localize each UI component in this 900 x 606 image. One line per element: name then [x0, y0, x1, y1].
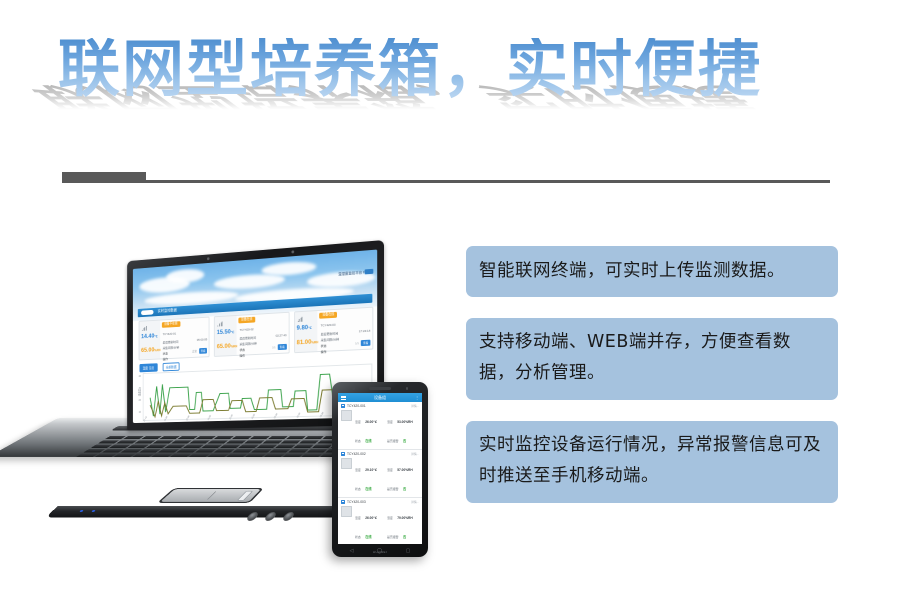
row-more-link[interactable]: 详情...	[411, 500, 419, 504]
chart-y-tick: 30	[139, 387, 141, 390]
list-item[interactable]: TCY420-001 详情... 温度 26.00℃ 湿度 53.00%RH 状…	[338, 402, 422, 450]
list-item[interactable]: TCY420-003 详情... 温度 26.00℃ 湿度 79.00%RH 状…	[338, 498, 422, 544]
device-flag-icon	[341, 452, 345, 456]
cloud-icon	[166, 268, 204, 284]
nav-menu-label[interactable]: 实时监控数据	[158, 308, 177, 314]
cloud-icon	[262, 260, 317, 277]
tab-all-data[interactable]: 全部数据	[162, 362, 179, 371]
dashboard-login-button[interactable]	[365, 269, 374, 275]
temp-label: 温度	[355, 468, 361, 472]
status-badge: 设备不在线	[162, 321, 180, 327]
state-label: 状态	[355, 535, 361, 539]
humidity-value: 81.00%RH	[297, 338, 319, 346]
humidity-value: 65.00%RH	[141, 346, 160, 353]
page-title: 联网型培养箱，实时便捷 联网型培养箱，实时便捷	[58, 38, 818, 158]
trackpad-divider	[207, 491, 216, 499]
list-item[interactable]: TCY420-002 详情... 温度 29.10℃ 湿度 57.00%RH 状…	[338, 450, 422, 498]
row-more-link[interactable]: 详情...	[411, 404, 419, 408]
feature-list: 智能联网终端，可实时上传监测数据。 支持移动端、WEB端并存，方便查看数据，分析…	[466, 246, 838, 524]
card-device-id: TCY420-01	[163, 332, 176, 336]
alarm-value: 否	[403, 487, 406, 491]
row-more-link[interactable]: 详情...	[411, 452, 419, 456]
humidity-value: 65.00%RH	[217, 343, 238, 351]
card-action-button[interactable]: 查看	[361, 340, 370, 346]
signal-icon	[298, 317, 304, 322]
divider	[62, 172, 830, 184]
hum-value: 57.00%RH	[397, 468, 412, 472]
temp-value: 29.10℃	[365, 468, 377, 472]
status-badge: 设备在线	[238, 317, 255, 323]
hum-value: 53.00%RH	[397, 420, 412, 424]
phone-app-title: 设备组	[338, 395, 422, 401]
device-id: TCY420-002	[347, 452, 366, 456]
alarm-label: 是否报警	[387, 535, 399, 539]
state-value: 在线	[365, 439, 371, 443]
card-row-label-2: 采集间隔/分钟	[321, 336, 339, 342]
temperature-value: 9.80℃	[297, 324, 312, 332]
device-thumbnail	[341, 410, 352, 421]
back-icon[interactable]: ◁	[350, 549, 354, 554]
hum-value: 79.00%RH	[397, 516, 412, 520]
hum-label: 湿度	[387, 468, 393, 472]
card-row-value-3: 正常	[192, 349, 197, 353]
phone-brand-label: HUAWEI	[373, 550, 387, 554]
page-title-text: 联网型培养箱，实时便捷	[58, 38, 818, 100]
nav-home-pill[interactable]	[141, 310, 153, 315]
feature-item-3: 实时监控设备运行情况，异常报警信息可及时推送至手机移动端。	[466, 421, 838, 503]
device-thumbnail	[341, 506, 352, 517]
temp-label: 温度	[355, 420, 361, 424]
card-row-label-3: 状态	[321, 343, 327, 348]
alarm-value: 否	[403, 535, 406, 539]
laptop-keyboard[interactable]	[76, 436, 360, 457]
alarm-value: 否	[403, 439, 406, 443]
device-id: TCY420-003	[347, 500, 366, 504]
phone-earpiece	[369, 387, 391, 390]
state-label: 状态	[355, 439, 361, 443]
card-row-label-4: 操作	[240, 353, 245, 358]
card-row-label-4: 操作	[163, 356, 168, 361]
state-value: 在线	[365, 487, 371, 491]
card-row-value-1: 02:27:43	[276, 333, 287, 337]
alarm-label: 是否报警	[387, 439, 399, 443]
card-row-label-1: 最后更新时间	[321, 330, 338, 336]
webcam-icon	[207, 257, 210, 260]
alarm-label: 是否报警	[387, 487, 399, 491]
card-row-label-1: 最后更新时间	[163, 339, 179, 344]
device-card[interactable]: 设备在线 15.50℃ 65.00%RH TCY420-02 最后更新时间 02…	[214, 312, 289, 357]
temperature-value: 15.50℃	[217, 328, 235, 336]
temperature-value: 14.40℃	[141, 333, 158, 340]
laptop-trackpad[interactable]	[157, 488, 264, 503]
card-row-label-4: 操作	[321, 349, 327, 354]
promo-page: 联网型培养箱，实时便捷 联网型培养箱，实时便捷 智能联网终端，可实时上传监测数据…	[0, 0, 900, 606]
card-row-label-3: 状态	[240, 347, 245, 352]
chart-y-tick: 10	[139, 411, 141, 414]
phone-app-header: 设备组 ⋮	[338, 393, 422, 402]
trackpad-scroll-strip[interactable]	[237, 491, 254, 501]
chart-y-axis-label: 温湿度	[138, 389, 141, 396]
card-row-value-3: 1/1	[355, 341, 359, 345]
device-flag-icon	[341, 404, 345, 408]
card-action-button[interactable]: 查看	[278, 344, 287, 350]
card-row-value-1: 17:24:14	[359, 329, 371, 334]
signal-icon	[218, 321, 223, 326]
phone-sensor-icon	[406, 387, 409, 390]
tab-temperature[interactable]: 温度 湿度	[139, 363, 157, 372]
state-value: 在线	[365, 535, 371, 539]
device-flag-icon	[341, 500, 345, 504]
card-device-id: TCY420-03	[321, 323, 336, 328]
phone-screen: 设备组 ⋮ TCY420-001 详情... 温度 26.00℃ 湿度 53.0…	[338, 393, 422, 544]
card-row-label-2: 采集间隔/分钟	[240, 341, 257, 347]
card-row-value-3: 1/1	[272, 345, 276, 349]
device-card[interactable]: 设备在线 9.80℃ 81.00%RH TCY420-03 最后更新时间 17:…	[294, 307, 373, 354]
state-label: 状态	[355, 487, 361, 491]
device-id: TCY420-001	[347, 404, 366, 408]
divider-block	[62, 172, 146, 183]
recent-apps-icon[interactable]: ▢	[406, 549, 411, 554]
feature-item-1: 智能联网终端，可实时上传监测数据。	[466, 246, 838, 297]
temp-value: 26.00℃	[365, 516, 377, 520]
status-badge: 设备在线	[319, 312, 337, 318]
signal-icon	[142, 326, 147, 331]
temp-value: 26.00℃	[365, 420, 377, 424]
hum-label: 湿度	[387, 516, 393, 520]
more-icon[interactable]: ⋮	[415, 396, 419, 400]
smartphone-illustration: 设备组 ⋮ TCY420-001 详情... 温度 26.00℃ 湿度 53.0…	[332, 382, 428, 557]
card-row-label-1: 最后更新时间	[240, 335, 256, 341]
card-action-button[interactable]: 查看	[199, 348, 207, 354]
feature-item-2: 支持移动端、WEB端并存，方便查看数据，分析管理。	[466, 318, 838, 400]
temp-label: 温度	[355, 516, 361, 520]
webcam-led-icon	[291, 250, 294, 253]
card-row-label-2: 采集间隔/分钟	[163, 345, 179, 350]
hum-label: 湿度	[387, 420, 393, 424]
card-row-value-1: 05:03:05	[197, 337, 207, 341]
chart-y-tick: 40	[139, 375, 141, 378]
card-device-id: TCY420-02	[240, 327, 254, 332]
device-thumbnail	[341, 458, 352, 469]
divider-line	[146, 180, 830, 183]
card-row-label-3: 状态	[163, 351, 168, 356]
phone-front-camera-icon	[352, 387, 355, 390]
chart-y-tick: 20	[139, 399, 141, 402]
device-card[interactable]: 设备不在线 14.40℃ 65.00%RH TCY420-01 最后更新时间 0…	[139, 317, 210, 361]
